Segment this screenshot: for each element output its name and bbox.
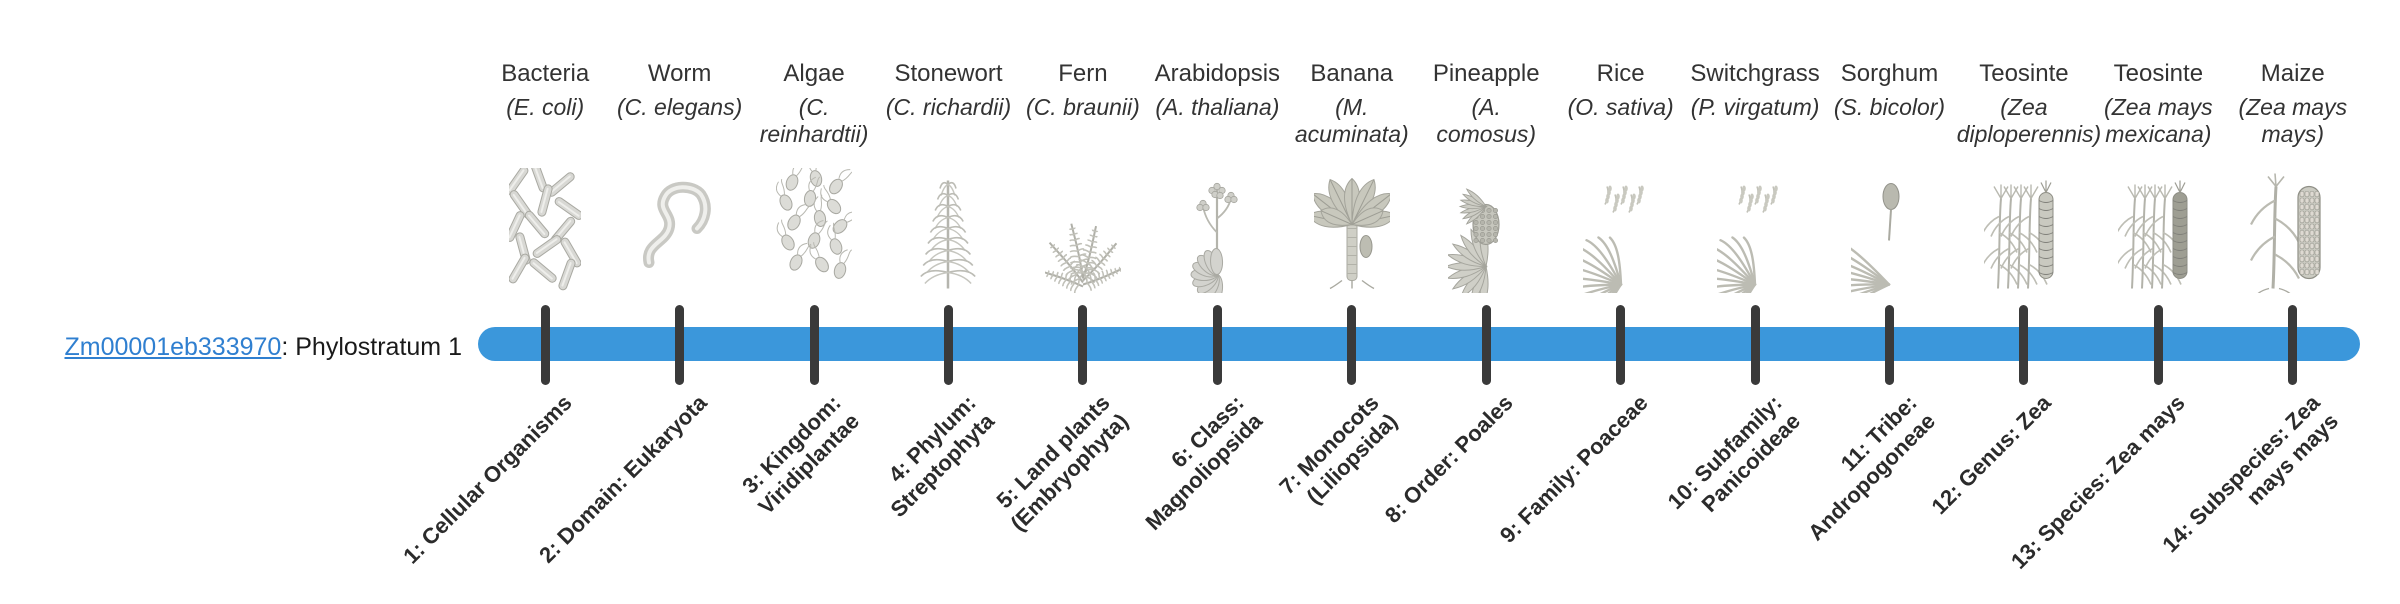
species-column: Switchgrass(P. virgatum) (1688, 0, 1822, 300)
species-common-name: Pineapple (1419, 60, 1553, 88)
species-common-name: Worm (612, 60, 746, 88)
phylostratum-value: Phylostratum 1 (295, 333, 462, 361)
species-common-name: Teosinte (1957, 60, 2091, 88)
species-common-name: Fern (1016, 60, 1150, 88)
species-common-name: Algae (747, 60, 881, 88)
phylostratum-tick (1616, 305, 1625, 385)
species-column: Maize(Zea mays mays) (2226, 0, 2360, 300)
species-column: Algae(C. reinhardtii) (747, 0, 881, 300)
algae-icon (747, 168, 881, 293)
species-scientific-name: (P. virgatum) (1688, 94, 1822, 121)
species-common-name: Maize (2226, 60, 2360, 88)
stratum-name: Domain: Eukaryota (552, 390, 711, 549)
stratum-number: 14: (2157, 517, 2197, 557)
phylostratigraphy-figure: Zm00001eb333970: Phylostratum 1 Bacteria… (0, 0, 2400, 580)
species-common-name: Stonewort (881, 60, 1015, 88)
teosinte-mexicana-icon (2091, 168, 2225, 293)
species-common-name: Teosinte (2091, 60, 2225, 88)
phylostratum-tick (675, 305, 684, 385)
stratum-name: Cellular Organisms (417, 390, 577, 550)
species-scientific-name: (C. braunii) (1016, 94, 1150, 121)
species-scientific-name: (O. sativa) (1553, 94, 1687, 121)
species-common-name: Sorghum (1822, 60, 1956, 88)
sorghum-icon (1822, 168, 1956, 293)
species-column: Arabidopsis(A. thaliana) (1150, 0, 1284, 300)
species-common-name: Banana (1285, 60, 1419, 88)
species-column: Rice(O. sativa) (1553, 0, 1687, 300)
species-column: Stonewort(C. richardii) (881, 0, 1015, 300)
teosinte-diploperennis-icon (1957, 168, 2091, 293)
stratum-name: Kingdom: Viridiplantae (753, 390, 864, 519)
stratum-number: 13: (2006, 534, 2046, 574)
stratum-name: Phylum: Streptophyta (885, 390, 999, 522)
stratum-number: 12: (1926, 479, 1966, 519)
species-scientific-name: (Zea mays mexicana) (2091, 94, 2225, 148)
gene-phylostratum-label: Zm00001eb333970: Phylostratum 1 (0, 332, 462, 362)
species-scientific-name: (A. thaliana) (1150, 94, 1284, 121)
maize-icon (2226, 168, 2360, 293)
stratum-name: Family: Poaceae (1513, 390, 1653, 530)
species-column: Pineapple(A. comosus) (1419, 0, 1553, 300)
species-column: Bacteria(E. coli) (478, 0, 612, 300)
stratum-name: Genus: Zea (1953, 390, 2055, 492)
species-common-name: Arabidopsis (1150, 60, 1284, 88)
phylostratum-tick (810, 305, 819, 385)
species-scientific-name: (Zea diploperennis) (1957, 94, 2091, 148)
rice-icon (1553, 168, 1687, 293)
phylostratum-tick (2154, 305, 2163, 385)
stonewort-icon (881, 168, 1015, 293)
stratum-name: Subspecies: Zea mays mays (2184, 390, 2343, 530)
species-common-name: Switchgrass (1688, 60, 1822, 88)
pineapple-icon (1419, 168, 1553, 293)
species-column: Banana(M. acuminata) (1285, 0, 1419, 300)
species-column: Fern(C. braunii) (1016, 0, 1150, 300)
species-scientific-name: (C. elegans) (612, 94, 746, 121)
species-scientific-name: (C. reinhardtii) (747, 94, 881, 148)
species-common-name: Rice (1553, 60, 1687, 88)
switchgrass-icon (1688, 168, 1822, 293)
banana-icon (1285, 168, 1419, 293)
species-scientific-name: (A. comosus) (1419, 94, 1553, 148)
species-column: Sorghum(S. bicolor) (1822, 0, 1956, 300)
phylostratum-tick (541, 305, 550, 385)
phylostratum-tick (1751, 305, 1760, 385)
species-scientific-name: (E. coli) (478, 94, 612, 121)
species-column: Worm(C. elegans) (612, 0, 746, 300)
species-scientific-name: (C. richardii) (881, 94, 1015, 121)
phylostratum-tick (1347, 305, 1356, 385)
stratum-name: Monocots (Liliopsida) (1292, 390, 1402, 509)
gene-label-separator: : (281, 333, 295, 361)
stratum-labels: 1: Cellular Organisms2: Domain: Eukaryot… (478, 390, 2360, 580)
species-column: Teosinte(Zea mays mexicana) (2091, 0, 2225, 300)
stratum-name: Species: Zea mays (2033, 390, 2190, 547)
phylostratum-tick (1078, 305, 1087, 385)
bacteria-icon (478, 168, 612, 293)
species-scientific-name: (Zea mays mays) (2226, 94, 2360, 148)
phylostratum-tick (1885, 305, 1894, 385)
phylostratum-tick (2288, 305, 2297, 385)
phylostratum-ticks (478, 305, 2360, 385)
phylostratum-tick (944, 305, 953, 385)
fern-icon (1016, 168, 1150, 293)
species-column: Teosinte(Zea diploperennis) (1957, 0, 2091, 300)
species-scientific-name: (M. acuminata) (1285, 94, 1419, 148)
phylostratum-tick (1213, 305, 1222, 385)
phylostratum-tick (2019, 305, 2028, 385)
gene-id-link[interactable]: Zm00001eb333970 (64, 333, 281, 361)
phylostratum-tick (1482, 305, 1491, 385)
arabidopsis-icon (1150, 168, 1284, 293)
stratum-name: Subfamily: Panicoideae (1690, 390, 1806, 517)
worm-icon (612, 168, 746, 293)
stratum-name: Order: Poales (1398, 390, 1518, 510)
species-common-name: Bacteria (478, 60, 612, 88)
stratum-number: 10: (1663, 474, 1703, 514)
species-scientific-name: (S. bicolor) (1822, 94, 1956, 121)
